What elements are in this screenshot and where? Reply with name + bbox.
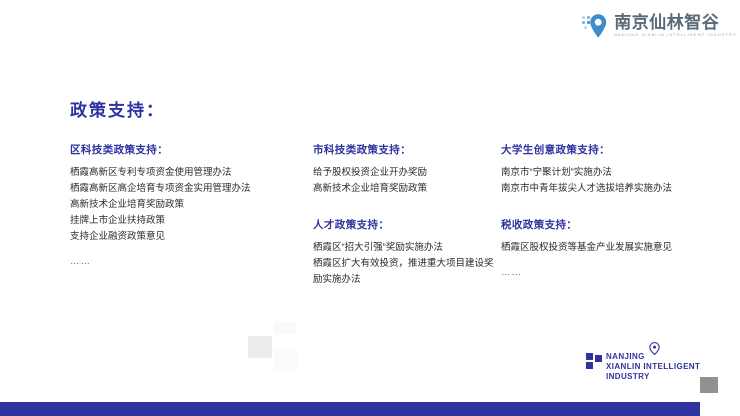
location-pin-icon: [582, 12, 608, 40]
list-item: 栖霞区股权投资等基金产业发展实施意见: [501, 240, 700, 256]
footer-brand-logo: NANJING XIANLIN INTELLIGENT INDUSTRY: [586, 352, 700, 382]
list-item: 栖霞高新区专利专项资金使用管理办法: [70, 165, 313, 181]
policy-group-title: 大学生创意政策支持：: [501, 142, 700, 157]
policy-item-list: 栖霞高新区专利专项资金使用管理办法 栖霞高新区高企培育专项资金实用管理办法 高新…: [70, 165, 313, 270]
list-ellipsis: ……: [70, 254, 313, 270]
footer-accent-bar: [0, 402, 700, 416]
policy-group-talent: 人才政策支持： 栖霞区“招大引强”奖励实施办法 栖霞区扩大有效投资，推进重大项目…: [313, 217, 501, 288]
location-pin-icon: [649, 342, 660, 355]
header-brand-name-en: NANJING XIANLIN INTELLIGENT INDUSTRY: [614, 34, 737, 38]
policy-group-title: 人才政策支持：: [313, 217, 501, 232]
policy-group-title: 税收政策支持：: [501, 217, 700, 232]
list-item: 南京市中青年拔尖人才选拔培养实施办法: [501, 181, 700, 197]
policy-column-3: 大学生创意政策支持： 南京市“宁聚计划”实施办法 南京市中青年拔尖人才选拔培养实…: [501, 142, 700, 281]
policy-item-list: 南京市“宁聚计划”实施办法 南京市中青年拔尖人才选拔培养实施办法: [501, 165, 700, 197]
list-item: 挂牌上市企业扶持政策: [70, 213, 313, 229]
policy-columns: 区科技类政策支持： 栖霞高新区专利专项资金使用管理办法 栖霞高新区高企培育专项资…: [70, 142, 700, 288]
watermark-squares-decoration: [248, 322, 308, 380]
policy-item-list: 栖霞区“招大引强”奖励实施办法 栖霞区扩大有效投资，推进重大项目建设奖励实施办法: [313, 240, 501, 288]
policy-group-tax: 税收政策支持： 栖霞区股权投资等基金产业发展实施意见 ……: [501, 217, 700, 281]
footer-gray-square-decoration: [700, 377, 718, 393]
footer-brand-line-2: XIANLIN INTELLIGENT: [606, 362, 700, 372]
list-item: 栖霞区扩大有效投资，推进重大项目建设奖励实施办法: [313, 256, 501, 288]
policy-item-list: 栖霞区股权投资等基金产业发展实施意见 ……: [501, 240, 700, 281]
header-brand-name-cn: 南京仙林智谷: [614, 14, 728, 31]
pixel-squares-icon: [586, 353, 603, 370]
list-item: 支持企业融资政策意见: [70, 229, 313, 245]
list-item: 南京市“宁聚计划”实施办法: [501, 165, 700, 181]
pin-dots-decoration: [582, 16, 592, 28]
policy-item-list: 给予股权投资企业开办奖励 高新技术企业培育奖励政策: [313, 165, 501, 197]
page-title: 政策支持：: [70, 96, 165, 121]
footer-brand-text: NANJING XIANLIN INTELLIGENT INDUSTRY: [606, 352, 700, 382]
list-item: 高新技术企业培育奖励政策: [313, 181, 501, 197]
slide-canvas: 南京仙林智谷 NANJING XIANLIN INTELLIGENT INDUS…: [0, 0, 740, 416]
list-item: 栖霞区“招大引强”奖励实施办法: [313, 240, 501, 256]
policy-column-2: 市科技类政策支持： 给予股权投资企业开办奖励 高新技术企业培育奖励政策 人才政策…: [313, 142, 501, 288]
policy-group-district-tech: 区科技类政策支持： 栖霞高新区专利专项资金使用管理办法 栖霞高新区高企培育专项资…: [70, 142, 313, 270]
list-item: 栖霞高新区高企培育专项资金实用管理办法: [70, 181, 313, 197]
policy-group-title: 市科技类政策支持：: [313, 142, 501, 157]
policy-column-1: 区科技类政策支持： 栖霞高新区专利专项资金使用管理办法 栖霞高新区高企培育专项资…: [70, 142, 313, 270]
policy-group-city-tech: 市科技类政策支持： 给予股权投资企业开办奖励 高新技术企业培育奖励政策: [313, 142, 501, 197]
header-brand-names: 南京仙林智谷 NANJING XIANLIN INTELLIGENT INDUS…: [614, 14, 728, 38]
list-item: 给予股权投资企业开办奖励: [313, 165, 501, 181]
policy-group-title: 区科技类政策支持：: [70, 142, 313, 157]
policy-group-student-innovation: 大学生创意政策支持： 南京市“宁聚计划”实施办法 南京市中青年拔尖人才选拔培养实…: [501, 142, 700, 197]
header-brand-logo: 南京仙林智谷 NANJING XIANLIN INTELLIGENT INDUS…: [582, 12, 728, 40]
footer-brand-line-3: INDUSTRY: [606, 372, 700, 382]
list-ellipsis: ……: [501, 265, 700, 281]
list-item: 高新技术企业培育奖励政策: [70, 197, 313, 213]
